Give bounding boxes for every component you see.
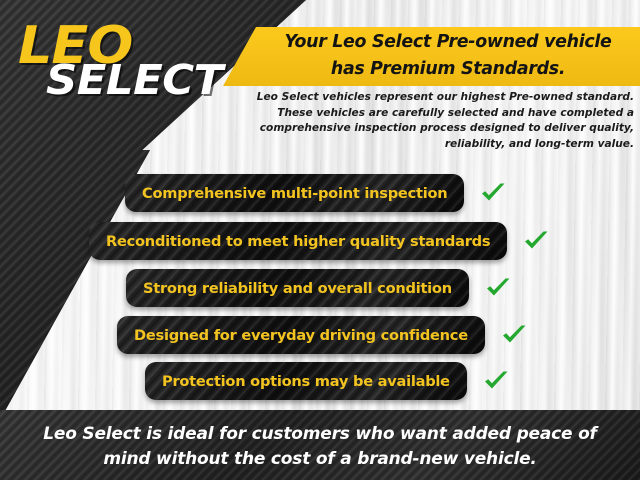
intro-paragraph: Leo Select vehicles represent our highes… <box>218 90 634 152</box>
check-icon <box>521 226 551 256</box>
page-title: Your Leo Select Pre-owned vehicle has Pr… <box>262 29 634 83</box>
headline-line-2: has Premium Standards. <box>262 56 634 83</box>
benefit-row-2: Reconditioned to meet higher quality sta… <box>89 222 551 260</box>
benefit-row-3: Strong reliability and overall condition <box>126 269 513 307</box>
benefit-pill-4[interactable]: Designed for everyday driving confidence <box>117 316 485 354</box>
benefit-label-3: Strong reliability and overall condition <box>143 280 452 297</box>
check-icon <box>478 178 508 208</box>
benefit-pill-5[interactable]: Protection options may be available <box>145 362 467 400</box>
footer-banner: Leo Select is ideal for customers who wa… <box>0 410 640 480</box>
benefit-pill-2[interactable]: Reconditioned to meet higher quality sta… <box>89 222 507 260</box>
footer-text: Leo Select is ideal for customers who wa… <box>24 422 616 472</box>
check-icon <box>499 320 529 350</box>
benefit-row-5: Protection options may be available <box>145 362 511 400</box>
leo-select-poster: LEO SELECT Your Leo Select Pre-owned veh… <box>0 0 640 480</box>
footer-line-2: mind without the cost of a brand-new veh… <box>24 447 616 472</box>
footer-line-1: Leo Select is ideal for customers who wa… <box>24 422 616 447</box>
benefit-label-1: Comprehensive multi-point inspection <box>142 185 447 202</box>
benefit-label-2: Reconditioned to meet higher quality sta… <box>106 233 490 250</box>
headline-line-1: Your Leo Select Pre-owned vehicle <box>262 29 634 56</box>
benefit-label-5: Protection options may be available <box>162 373 450 390</box>
benefit-label-4: Designed for everyday driving confidence <box>134 327 468 344</box>
benefit-row-1: Comprehensive multi-point inspection <box>125 174 508 212</box>
benefit-row-4: Designed for everyday driving confidence <box>117 316 529 354</box>
check-icon <box>481 366 511 396</box>
benefit-pill-3[interactable]: Strong reliability and overall condition <box>126 269 469 307</box>
benefit-pill-1[interactable]: Comprehensive multi-point inspection <box>125 174 464 212</box>
check-icon <box>483 273 513 303</box>
